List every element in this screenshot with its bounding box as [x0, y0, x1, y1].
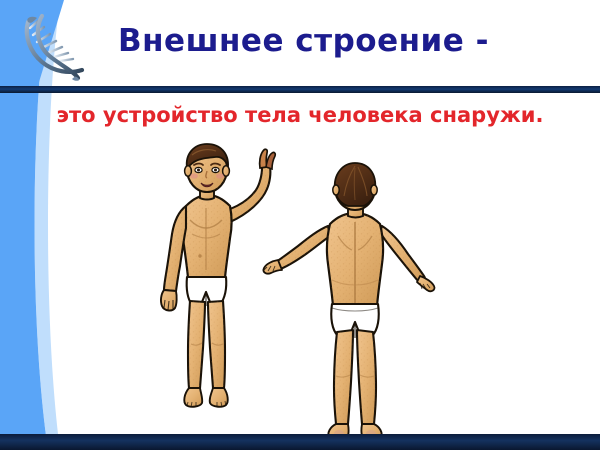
- page-title: Внешнее строение -: [118, 24, 578, 58]
- boy-back-view: [263, 163, 434, 434]
- human-body-illustration: [120, 138, 490, 434]
- dna-helix-icon: [16, 12, 90, 82]
- boy-front-view: [161, 144, 275, 407]
- slide-root: Внешнее строение - это устройство тела ч…: [0, 0, 600, 450]
- subtitle-text: это устройство тела человека снаружи.: [0, 103, 600, 127]
- slide-header: Внешнее строение -: [0, 0, 600, 92]
- bottom-navy-bar: [0, 434, 600, 450]
- header-divider-rule: [0, 86, 600, 93]
